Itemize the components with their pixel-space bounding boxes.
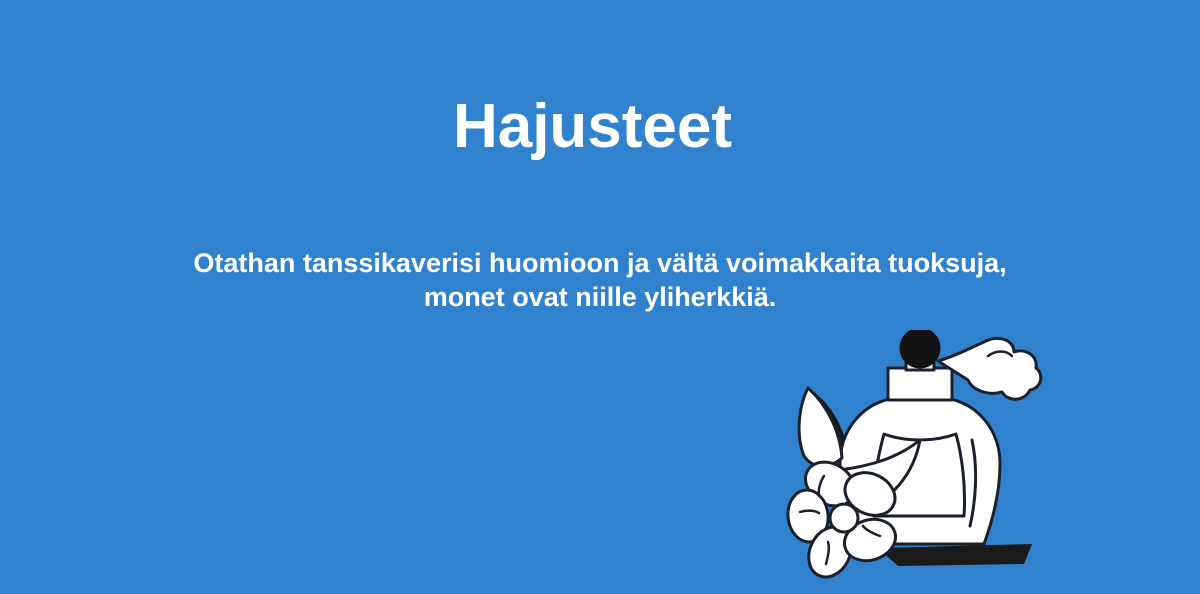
- spray-nozzle-cap: [901, 330, 939, 367]
- bottle-collar: [888, 368, 952, 400]
- perfume-bottle-illustration: [786, 330, 1054, 594]
- slide-canvas: Hajusteet Otathan tanssikaverisi huomioo…: [0, 0, 1200, 594]
- body-text: Otathan tanssikaverisi huomioon ja vältä…: [0, 246, 1200, 314]
- body-text-line-2: monet ovat niille yliherkkiä.: [70, 280, 1130, 314]
- ground-shadow: [878, 544, 1032, 566]
- flower-center: [830, 504, 858, 532]
- page-title: Hajusteet: [0, 94, 1185, 159]
- body-text-line-1: Otathan tanssikaverisi huomioon ja vältä…: [70, 246, 1130, 280]
- leaf-left: [799, 388, 842, 466]
- perfume-bottle-svg: [786, 330, 1054, 594]
